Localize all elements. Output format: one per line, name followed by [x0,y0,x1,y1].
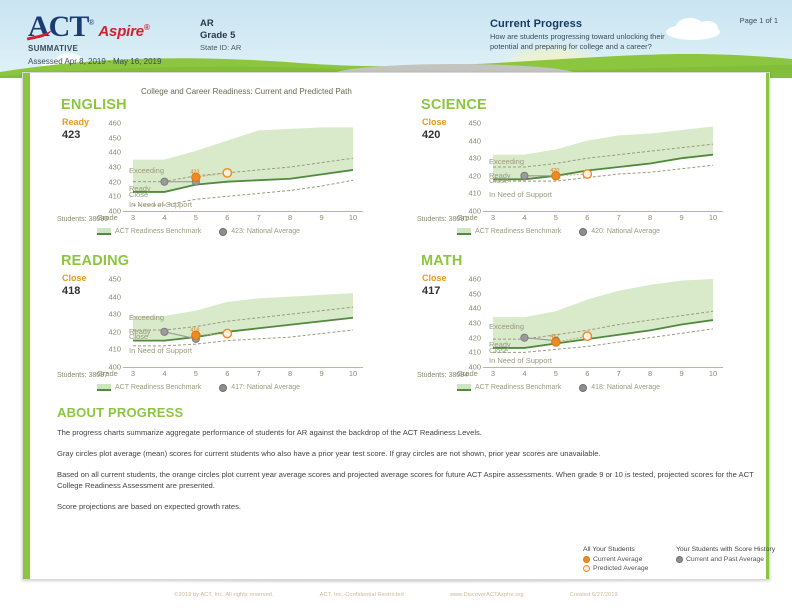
x-tick-label: 6 [225,369,229,378]
y-tick-label: 430 [97,310,121,319]
footer-confidential: ACT, Inc.-Confidential Restricted [320,592,404,598]
gray-average-point [521,172,528,179]
predicted-average-point [583,332,591,340]
legend-benchmark-label: ACT Readiness Benchmark [115,384,201,391]
chart-legend-math: ACT Readiness Benchmark418: National Ave… [457,381,737,393]
y-tick-label: 430 [97,163,121,172]
y-tick-label: 420 [97,327,121,336]
footer-copyright: ©2019 by ACT, Inc. All rights reserved. [174,592,273,598]
legend-label-predicted-average: Predicted Average [593,565,648,572]
gray-average-point [521,334,528,341]
y-tick-label: 450 [97,275,121,284]
predicted-average-point [223,169,231,177]
x-tick-label: 4 [162,369,166,378]
national-average-dot-icon [579,228,587,236]
x-tick-label: 8 [288,369,292,378]
y-tick-label: 440 [457,304,481,313]
legend-national-label: 420: National Average [591,228,660,235]
x-tick-label: 4 [522,369,526,378]
page-footer: ©2019 by ACT, Inc. All rights reserved. … [0,592,792,598]
legend-item-current-past-average: Current and Past Average [676,556,775,563]
benchmark-swatch-icon [457,384,471,391]
x-tick-label: 5 [194,369,198,378]
band-label-exceeding: Exceeding [129,166,164,175]
national-average-dot-icon [219,228,227,236]
footer-website: www.DiscoverACTAspire.org [450,592,524,598]
average-score-reading: 418 [62,285,80,297]
average-score-science: 420 [422,129,440,141]
legend-heading-score-history: Your Students with Score History [676,546,775,553]
average-score-math: 417 [422,285,440,297]
x-axis-math: Grade345678910 [457,369,727,381]
current-progress-title: Current Progress [490,18,690,30]
y-tick-label: 440 [97,148,121,157]
act-registered-icon: ® [88,18,93,27]
x-tick-label: 7 [617,213,621,222]
x-tick-label: 3 [491,213,495,222]
about-paragraph-2: Gray circles plot average (mean) scores … [57,448,757,459]
y-tick-label: 410 [97,345,121,354]
y-tick-label: 420 [457,171,481,180]
y-tick-label: 410 [457,348,481,357]
x-tick-label: 9 [319,369,323,378]
legend-label-current-average: Current Average [593,556,642,563]
subject-title-reading: READING [61,253,129,269]
band-label-in-need-of-support: In Need of Support [129,346,192,355]
legend-label-current-past-average: Current and Past Average [686,556,764,563]
exceeding-band [493,127,713,180]
current-progress-subtitle: How are students progressing toward unlo… [490,32,690,52]
x-tick-label: 10 [349,213,357,222]
benchmark-swatch-icon [457,228,471,235]
band-label-close: Close [489,176,508,185]
chart-legend-science: ACT Readiness Benchmark420: National Ave… [457,225,737,237]
gray-average-point [161,328,168,335]
y-axis-english: 460450440430420410400 [97,123,121,211]
current-average-value-label: 417 [550,334,559,340]
legend-national-label: 423: National Average [231,228,300,235]
x-tick-label: 4 [522,213,526,222]
footer-created: Created 6/27/2019 [570,592,618,598]
about-paragraph-1: The progress charts summarize aggregate … [57,427,757,438]
band-label-in-need-of-support: In Need of Support [489,356,552,365]
benchmark-swatch-icon [97,228,111,235]
act-wordmark: ACT® [28,12,93,42]
x-tick-label: 3 [131,213,135,222]
y-tick-label: 460 [97,119,121,128]
x-axis-line [483,211,723,212]
assessed-window-label: Assessed Apr 8, 2019 - May 16, 2019 [28,57,161,66]
x-tick-label: 5 [554,369,558,378]
x-axis-title: Grade [97,213,118,222]
chart-panel-math: MATHClose417Students: 380944604504404304… [397,253,757,413]
y-tick-label: 410 [457,189,481,198]
y-axis-science: 450440430420410400 [457,123,481,211]
plot-area-english: 460450440430420410400423ExceedingReadyCl… [97,123,367,223]
chart-panel-science: SCIENCEClose420Students: 380914504404304… [397,97,757,257]
x-tick-label: 6 [225,213,229,222]
school-info-block: AR Grade 5 State ID: AR [200,18,241,52]
readiness-level-reading: Close [62,273,87,283]
x-tick-label: 8 [648,369,652,378]
x-tick-label: 4 [162,213,166,222]
band-label-exceeding: Exceeding [489,322,524,331]
x-axis-line [123,211,363,212]
section-title: College and Career Readiness: Current an… [141,87,352,96]
x-axis-science: Grade345678910 [457,213,727,225]
legend-national-label: 418: National Average [591,384,660,391]
predicted-average-point [583,170,591,178]
chart-legend-english: ACT Readiness Benchmark423: National Ave… [97,225,377,237]
about-paragraph-4: Score projections are based on expected … [57,501,757,512]
legend-item-predicted-average: Predicted Average [583,565,648,572]
band-label-close: Close [129,190,148,199]
aspire-text: Aspire [98,23,144,40]
about-progress-section: ABOUT PROGRESS The progress charts summa… [57,405,757,522]
x-tick-label: 6 [585,213,589,222]
subject-title-math: MATH [421,253,463,269]
y-tick-label: 420 [97,177,121,186]
grade-label: Grade 5 [200,30,241,42]
legend-column-all-students: All Your Students Current Average Predic… [583,546,648,574]
readiness-level-english: Ready [62,117,89,127]
state-id-label: State ID: AR [200,43,241,52]
x-tick-label: 9 [319,213,323,222]
y-tick-label: 460 [457,275,481,284]
aspire-wordmark: Aspire® [98,23,149,40]
national-average-dot-icon [579,384,587,392]
x-tick-label: 3 [131,369,135,378]
subject-title-english: ENGLISH [61,97,127,113]
legend-column-score-history: Your Students with Score History Current… [676,546,775,565]
act-aspire-logo: ACT®Aspire® [28,12,150,42]
readiness-level-math: Close [422,273,447,283]
chart-panel-english: ENGLISHReady423Students: 380964604504404… [37,97,397,257]
legend-item-current-average: Current Average [583,556,648,563]
x-tick-label: 5 [554,213,558,222]
gray-average-point [161,178,168,185]
x-tick-label: 7 [617,369,621,378]
y-tick-label: 450 [457,289,481,298]
x-tick-label: 8 [648,213,652,222]
x-axis-title: Grade [457,213,478,222]
band-label-exceeding: Exceeding [489,157,524,166]
chart-panel-reading: READINGClose418Students: 380974504404304… [37,253,397,413]
predicted-average-point [223,329,231,337]
plot-area-math: 460450440430420410400417ExceedingReadyCl… [457,279,727,379]
plot-area-science: 450440430420410400420ExceedingReadyClose… [457,123,727,223]
page-header: ACT®Aspire® SUMMATIVE Assessed Apr 8, 20… [0,0,792,78]
page-number-label: Page 1 of 1 [740,16,778,25]
x-tick-label: 3 [491,369,495,378]
card-right-accent-bar [766,73,769,579]
report-card: College and Career Readiness: Current an… [22,72,770,580]
x-tick-label: 5 [194,213,198,222]
current-average-value-label: 418 [190,327,199,333]
y-tick-label: 410 [97,192,121,201]
legend-heading-all-students: All Your Students [583,546,648,553]
report-type-label: SUMMATIVE [28,44,78,53]
y-tick-label: 430 [457,154,481,163]
readiness-level-science: Close [422,117,447,127]
y-tick-label: 450 [97,133,121,142]
x-axis-title: Grade [457,369,478,378]
current-average-value-label: 423 [190,169,199,175]
x-tick-label: 7 [257,369,261,378]
aspire-registered-icon: ® [144,23,150,32]
y-tick-label: 430 [457,319,481,328]
plot-area-reading: 450440430420410400418ExceedingReadyClose… [97,279,367,379]
legend-national-label: 417: National Average [231,384,300,391]
legend-benchmark-label: ACT Readiness Benchmark [115,228,201,235]
about-paragraph-3: Based on all current students, the orang… [57,469,757,491]
band-label-close: Close [489,346,508,355]
card-left-accent-bar [23,73,30,579]
x-axis-reading: Grade345678910 [97,369,367,381]
x-tick-label: 10 [709,213,717,222]
national-average-dot-icon [219,384,227,392]
band-label-close: Close [129,332,148,341]
x-tick-label: 9 [679,213,683,222]
y-tick-label: 440 [97,292,121,301]
y-axis-math: 460450440430420410400 [457,279,481,367]
orange-filled-dot-icon [583,556,590,563]
band-label-in-need-of-support: In Need of Support [489,190,552,199]
y-axis-reading: 450440430420410400 [97,279,121,367]
school-name: AR [200,18,241,30]
benchmark-swatch-icon [97,384,111,391]
current-progress-block: Current Progress How are students progre… [490,18,690,52]
x-tick-label: 10 [349,369,357,378]
legend-benchmark-label: ACT Readiness Benchmark [475,384,561,391]
y-tick-label: 420 [457,333,481,342]
subject-title-science: SCIENCE [421,97,487,113]
x-axis-english: Grade345678910 [97,213,367,225]
x-tick-label: 6 [585,369,589,378]
orange-open-dot-icon [583,565,590,572]
x-axis-line [483,367,723,368]
x-axis-line [123,367,363,368]
y-tick-label: 440 [457,136,481,145]
x-tick-label: 9 [679,369,683,378]
about-heading: ABOUT PROGRESS [57,405,757,420]
x-tick-label: 7 [257,213,261,222]
cloud-icon [696,21,718,35]
x-axis-title: Grade [97,369,118,378]
band-label-in-need-of-support: In Need of Support [129,200,192,209]
x-tick-label: 8 [288,213,292,222]
average-score-english: 423 [62,129,80,141]
y-tick-label: 450 [457,119,481,128]
gray-dot-icon [676,556,683,563]
band-label-exceeding: Exceeding [129,313,164,322]
current-average-value-label: 420 [550,168,559,174]
chart-legend-reading: ACT Readiness Benchmark417: National Ave… [97,381,377,393]
legend-benchmark-label: ACT Readiness Benchmark [475,228,561,235]
x-tick-label: 10 [709,369,717,378]
